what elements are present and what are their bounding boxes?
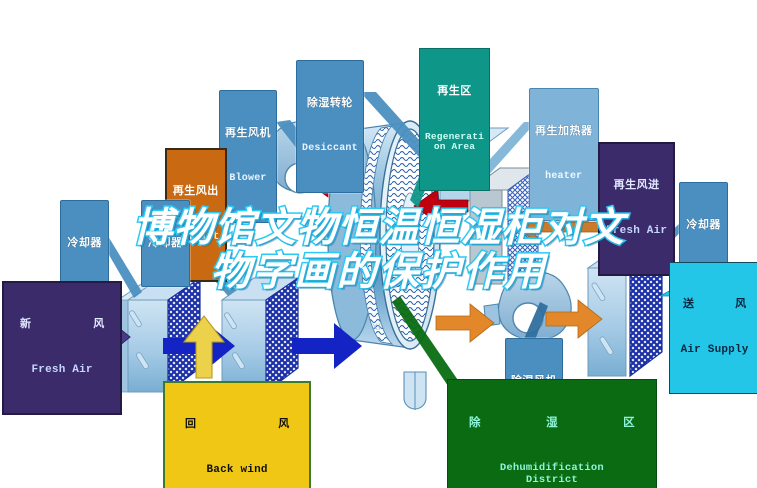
callout-fresh-air-en: Fresh Air xyxy=(10,365,114,377)
callout-desiccant[interactable]: 除湿转轮 Desiccant xyxy=(296,60,364,193)
callout-regeneration-heater-cn: 再生加热器 xyxy=(535,126,593,138)
callout-desiccant-en: Desiccant xyxy=(302,144,358,155)
callout-desiccant-cn: 除湿转轮 xyxy=(302,98,358,110)
callout-regeneration-heater[interactable]: 再生加热器 heater xyxy=(529,88,599,221)
callout-regeneration-area-en: Regenerati on Area xyxy=(425,132,484,153)
callout-exhaust-cn: 再生风出 xyxy=(172,186,220,198)
overlay-headline-line2: 物字画的保护作用 xyxy=(0,250,757,294)
callout-regeneration-heater-en: heater xyxy=(535,172,593,183)
callout-fresh-air[interactable]: 新 风 Fresh Air xyxy=(2,281,122,415)
callout-regeneration-area-cn: 再生区 xyxy=(425,86,484,98)
svg-text:XF: XF xyxy=(372,322,384,332)
overlay-headline-line1: 博物馆文物恒温恒湿柜对文 xyxy=(0,206,757,250)
callout-dehumidification-district-cn: 除 湿 区 xyxy=(455,417,649,429)
callout-dehumidification-district-en: Dehumidification District xyxy=(455,463,649,486)
callout-regeneration-blower-en: Blower xyxy=(225,174,271,185)
callout-back-wind-en: Back wind xyxy=(171,465,303,477)
callout-air-supply-en: Air Supply xyxy=(675,345,754,357)
callout-back-wind-cn: 回 风 xyxy=(171,419,303,431)
diagram-canvas: XF xyxy=(0,0,757,488)
callout-regeneration-area[interactable]: 再生区 Regenerati on Area xyxy=(419,48,490,191)
cooler-unit-left-2 xyxy=(222,278,298,392)
cooler-unit-left-1 xyxy=(118,278,200,392)
callout-regeneration-blower-cn: 再生风机 xyxy=(225,128,271,140)
callout-back-wind[interactable]: 回 风 Back wind xyxy=(163,381,311,488)
overlay-headline: 博物馆文物恒温恒湿柜对文 物字画的保护作用 xyxy=(0,206,757,294)
callout-fresh-air-cn: 新 风 xyxy=(10,319,114,331)
callout-regeneration-blower[interactable]: 再生风机 Blower xyxy=(219,90,277,223)
callout-dehumidification-district[interactable]: 除 湿 区 Dehumidification District xyxy=(447,379,657,488)
callout-regeneration-fresh-air-cn: 再生风进 xyxy=(606,180,667,192)
callout-air-supply-cn: 送 风 xyxy=(675,299,754,311)
